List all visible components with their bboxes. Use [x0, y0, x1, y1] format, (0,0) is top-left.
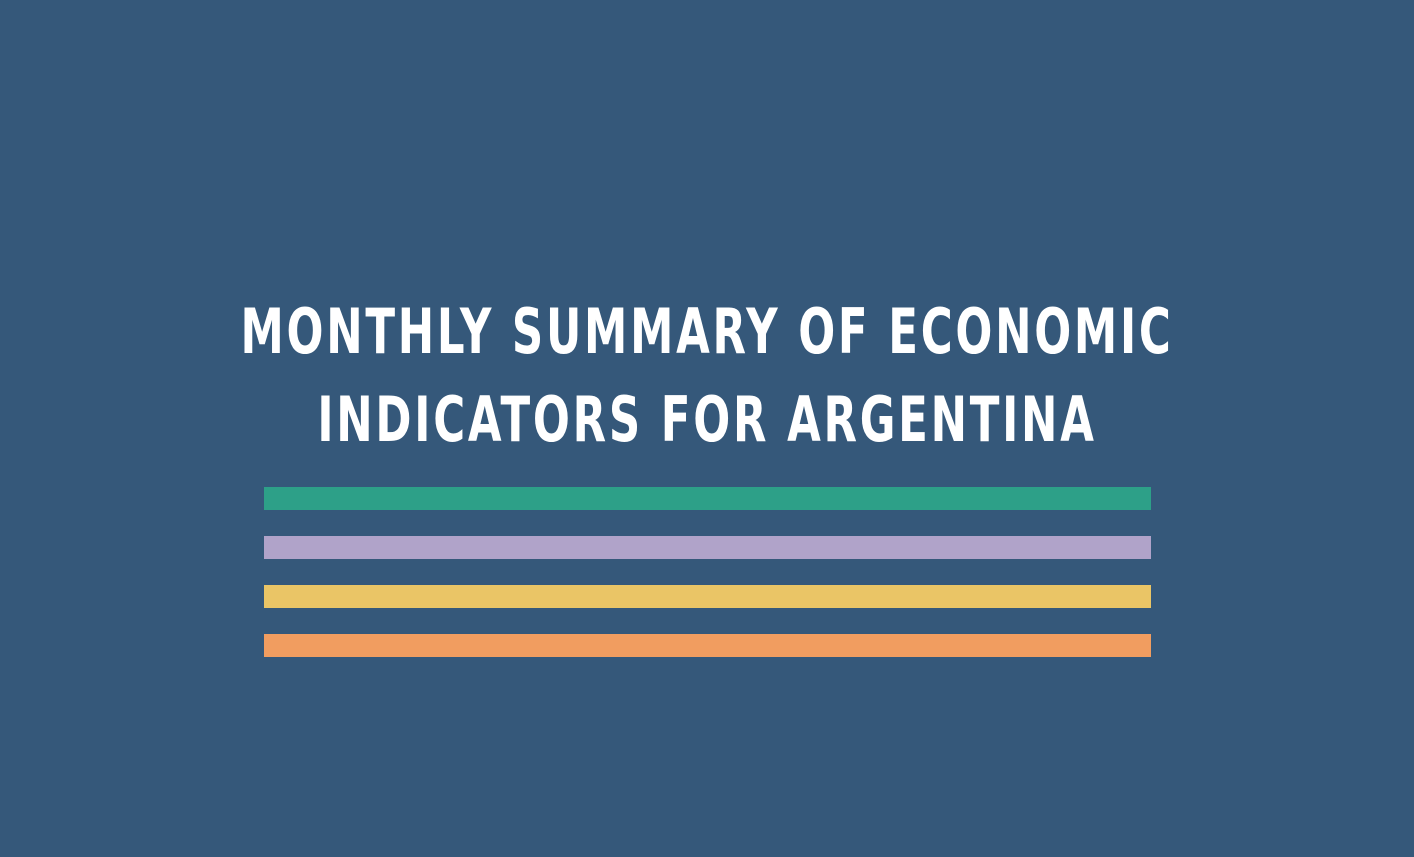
decorative-bar-teal: [264, 487, 1151, 510]
title-line-1: MONTHLY SUMMARY OF ECONOMIC: [156, 288, 1259, 376]
page-title: MONTHLY SUMMARY OF ECONOMIC INDICATORS F…: [0, 288, 1414, 464]
decorative-bar-yellow: [264, 585, 1151, 608]
decorative-bar-stack: [264, 487, 1151, 657]
decorative-bar-purple: [264, 536, 1151, 559]
title-line-2: INDICATORS FOR ARGENTINA: [156, 376, 1259, 464]
title-slide: MONTHLY SUMMARY OF ECONOMIC INDICATORS F…: [0, 0, 1414, 857]
decorative-bar-orange: [264, 634, 1151, 657]
